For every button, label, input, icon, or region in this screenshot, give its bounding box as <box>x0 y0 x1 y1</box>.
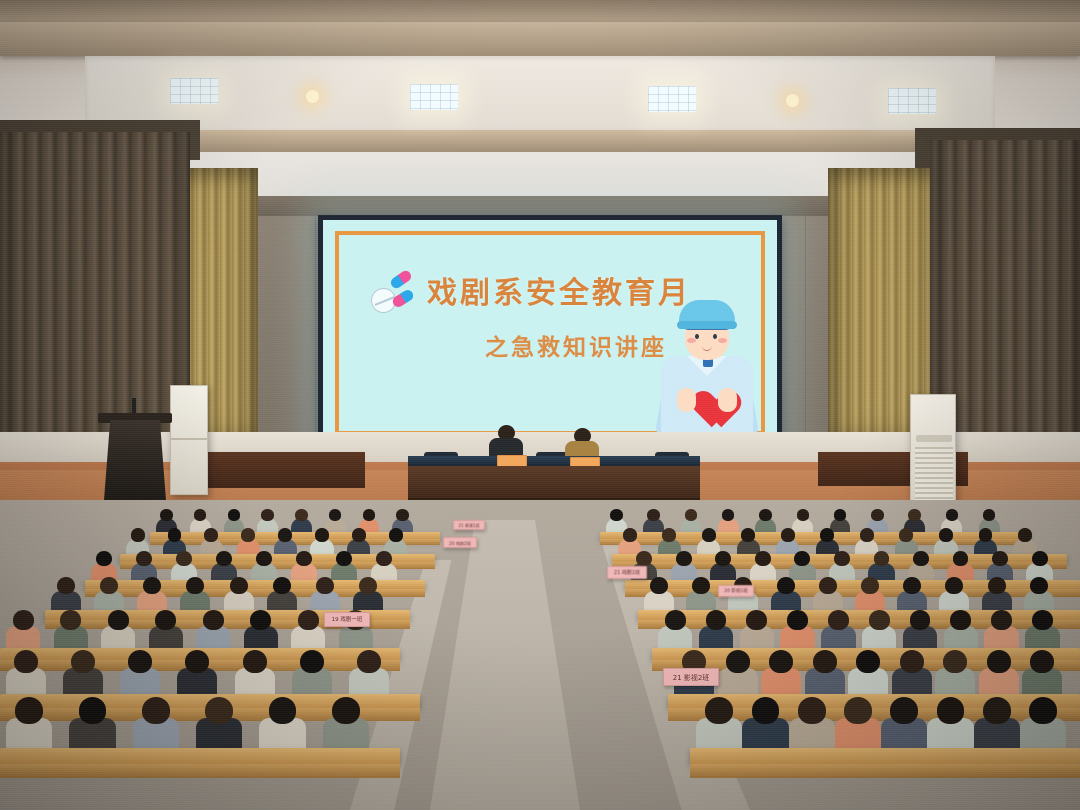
audience-head <box>647 509 659 521</box>
pill-capsule-shape <box>389 269 413 291</box>
ceiling-beam-second <box>0 22 1080 56</box>
stage-plinth-left <box>195 452 365 488</box>
audience-head <box>871 509 883 521</box>
audience-head <box>899 528 913 541</box>
bench-front-panel <box>0 764 400 778</box>
audience-head <box>1029 697 1057 724</box>
audience-head <box>685 509 697 521</box>
audience-head <box>298 610 319 630</box>
audience-head <box>376 551 392 566</box>
audience-head <box>813 650 837 673</box>
medic-eye <box>695 334 699 339</box>
audience-head <box>329 509 341 521</box>
audience-head <box>250 610 271 630</box>
ceiling-beam-top <box>0 0 1080 22</box>
audience-head <box>945 577 963 594</box>
audience-head <box>352 528 366 541</box>
floor-air-conditioner <box>910 394 956 506</box>
audience-head <box>834 551 850 566</box>
wall-soffit <box>150 196 930 216</box>
ceiling-panel-light <box>410 84 458 110</box>
audience-head <box>979 528 993 541</box>
ceiling-coffer-upper <box>85 56 995 130</box>
audience-head <box>57 577 75 594</box>
audience-head <box>834 509 846 521</box>
ac-display-slot <box>916 435 952 442</box>
ceiling-beam-third <box>60 130 1020 152</box>
audience-head <box>176 551 192 566</box>
audience-head <box>726 650 750 673</box>
audience-head <box>950 610 971 630</box>
audience-head <box>295 509 307 521</box>
audience-head <box>861 577 879 594</box>
audience-head <box>665 610 686 630</box>
audience-head <box>623 528 637 541</box>
audience-head <box>332 697 360 724</box>
audience-head <box>746 610 767 630</box>
audience-head <box>15 697 43 724</box>
audience-head <box>396 509 408 521</box>
audience-head <box>992 551 1008 566</box>
class-sign: 21 表演1班 <box>453 520 485 530</box>
audience-head <box>316 577 334 594</box>
audience-head <box>216 551 232 566</box>
audience-head <box>269 697 297 724</box>
audience-head <box>741 528 755 541</box>
slide-canvas: 戏剧系安全教育月 之急救知识讲座 <box>323 220 777 446</box>
audience-head <box>136 551 152 566</box>
audience-head <box>769 650 793 673</box>
ceiling-panel-light <box>648 86 696 112</box>
audience-head <box>777 577 795 594</box>
audience-head <box>910 610 931 630</box>
class-sign: 20 戏剧2班 <box>443 537 477 548</box>
audience-head <box>692 577 710 594</box>
audience-head <box>890 697 918 724</box>
audience-head <box>357 650 381 673</box>
audience-head <box>759 509 771 521</box>
audience-head <box>204 528 218 541</box>
medic-holding-heart-icon <box>651 296 763 446</box>
audience-head <box>300 650 324 673</box>
audience-head <box>650 577 668 594</box>
ceiling-warm-spot <box>786 94 799 107</box>
audience-head <box>315 528 329 541</box>
audience-head <box>60 610 81 630</box>
audience-head <box>359 577 377 594</box>
audience-head <box>203 610 224 630</box>
audience-head <box>636 551 652 566</box>
audience-head <box>913 551 929 566</box>
audience-head <box>662 528 676 541</box>
audience-head <box>844 697 872 724</box>
ceiling-panel-light <box>170 78 218 104</box>
side-curtain-dark-left <box>0 132 190 482</box>
audience-head <box>787 610 808 630</box>
audience-head <box>278 528 292 541</box>
audience-head <box>1018 528 1032 541</box>
pills-icon <box>371 272 417 312</box>
audience-head <box>205 697 233 724</box>
ac-vent <box>915 447 953 503</box>
audience-head <box>243 650 267 673</box>
audience-head <box>983 697 1011 724</box>
medic-cheek <box>718 338 727 343</box>
bench-desk <box>690 748 1080 764</box>
audience-head <box>108 610 129 630</box>
audience-head <box>900 650 924 673</box>
audience-head <box>715 551 731 566</box>
bench-front-panel <box>690 764 1080 778</box>
audience-head <box>241 528 255 541</box>
audience-head <box>1032 610 1053 630</box>
pill-capsule-shape <box>391 288 415 309</box>
audience-head <box>79 697 107 724</box>
class-sign: 19 戏剧一班 <box>324 612 370 627</box>
audience-head <box>903 577 921 594</box>
audience-head <box>336 551 352 566</box>
medic-cap-band <box>677 321 737 329</box>
audience-head <box>185 650 209 673</box>
audience-head <box>155 610 176 630</box>
audience-head <box>987 650 1011 673</box>
ceiling-panel-light <box>888 88 936 114</box>
audience-head <box>946 509 958 521</box>
audience-head <box>160 509 172 521</box>
audience-head <box>168 528 182 541</box>
audience-head <box>194 509 206 521</box>
head-table-front <box>408 466 700 502</box>
audience-head <box>953 551 969 566</box>
medic-hand <box>718 388 737 412</box>
audience-head <box>856 650 880 673</box>
audience-head <box>874 551 890 566</box>
audience-head <box>228 509 240 521</box>
audience-head <box>389 528 403 541</box>
audience-head <box>13 610 34 630</box>
audience-head <box>755 551 771 566</box>
led-screen: 戏剧系安全教育月 之急救知识讲座 <box>318 215 782 451</box>
audience-head <box>100 577 118 594</box>
white-cabinet <box>170 385 208 495</box>
audience-head <box>828 610 849 630</box>
audience-head <box>937 697 965 724</box>
audience-head <box>230 577 248 594</box>
audience-head <box>128 650 152 673</box>
audience-head <box>781 528 795 541</box>
audience-head <box>908 509 920 521</box>
audience-head <box>722 509 734 521</box>
audience-head <box>1032 551 1048 566</box>
audience-head <box>676 551 692 566</box>
audience-head <box>363 509 375 521</box>
audience-head <box>14 650 38 673</box>
audience-head <box>186 577 204 594</box>
audience-head <box>991 610 1012 630</box>
lectern <box>104 420 166 500</box>
audience-head <box>142 697 170 724</box>
audience-head <box>1030 650 1054 673</box>
audience-head <box>794 551 810 566</box>
audience-head <box>819 577 837 594</box>
audience-head <box>256 551 272 566</box>
audience-head <box>131 528 145 541</box>
audience-head <box>143 577 161 594</box>
class-sign: 20 影视1班 <box>718 585 754 597</box>
audience-head <box>988 577 1006 594</box>
audience-head <box>983 509 995 521</box>
audience-head <box>797 509 809 521</box>
audience-head <box>798 697 826 724</box>
audience-head <box>869 610 890 630</box>
audience-head <box>96 551 112 566</box>
audience-head <box>273 577 291 594</box>
bench-desk <box>0 748 400 764</box>
medic-cheek <box>687 338 696 343</box>
audience-head <box>261 509 273 521</box>
audience-head <box>702 528 716 541</box>
audience-head <box>939 528 953 541</box>
audience-head <box>705 697 733 724</box>
class-sign: 21 戏剧1班 <box>607 566 647 579</box>
audience-head <box>820 528 834 541</box>
audience-head <box>1030 577 1048 594</box>
audience-head <box>296 551 312 566</box>
lecture-hall-photo: 戏剧系安全教育月 之急救知识讲座 <box>0 0 1080 810</box>
audience-head <box>943 650 967 673</box>
audience-head <box>71 650 95 673</box>
ceiling-warm-spot <box>306 90 319 103</box>
audience-head <box>752 697 780 724</box>
medic-hand <box>677 388 696 412</box>
medic-eye <box>713 334 717 339</box>
audience-head <box>706 610 727 630</box>
audience-head <box>860 528 874 541</box>
class-sign: 21 影视2班 <box>663 668 719 686</box>
audience-head <box>610 509 622 521</box>
